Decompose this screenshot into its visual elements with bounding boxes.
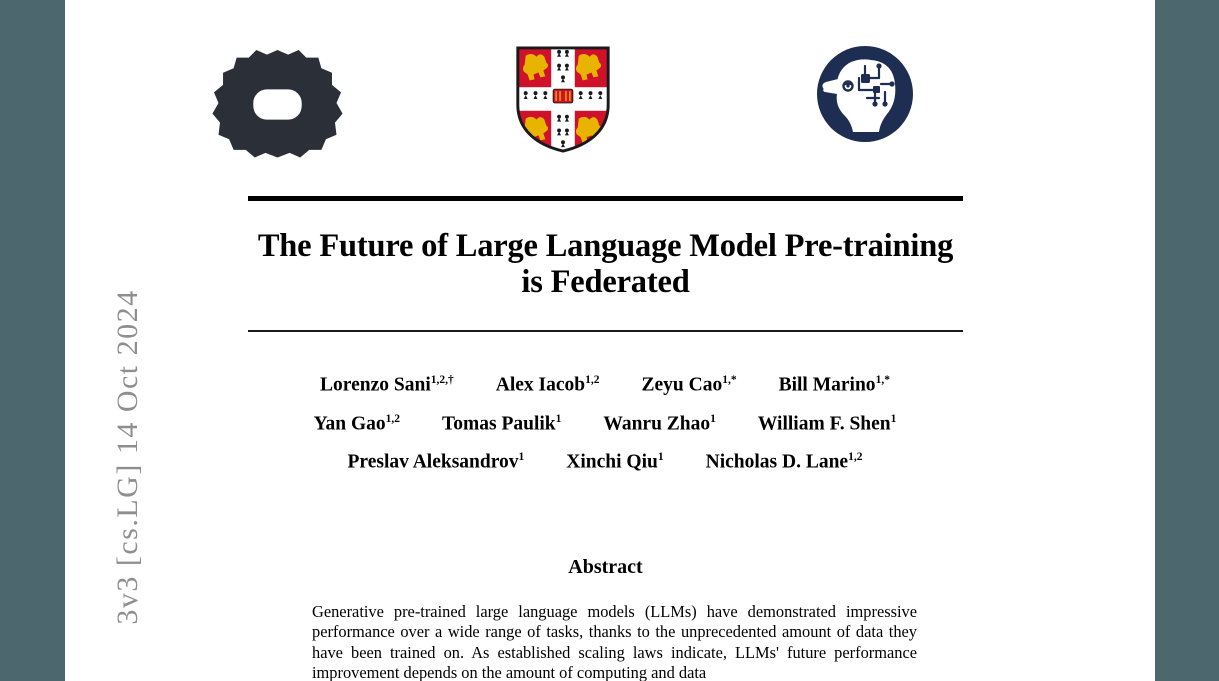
paper-title: The Future of Large Language Model Pre-t… <box>248 228 963 300</box>
author-affiliation-marker: 1 <box>556 413 562 425</box>
author-affiliation-marker: 1 <box>658 451 664 463</box>
author-name: Lorenzo Sani1,2,† <box>320 374 454 397</box>
author-affiliation-marker: 1,* <box>722 374 736 386</box>
author-affiliation-marker: 1,* <box>876 374 890 386</box>
flower-labs-gear-icon <box>200 44 355 162</box>
author-name: Zeyu Cao1,* <box>642 374 737 397</box>
author-name: Xinchi Qiu1 <box>566 451 663 474</box>
author-name: Wanru Zhao1 <box>603 413 716 436</box>
author-name: William F. Shen1 <box>758 413 897 436</box>
paper-page: 3v3 [cs.LG] 14 Oct 2024 <box>65 0 1155 681</box>
title-rule-bottom <box>248 330 963 332</box>
author-name: Preslav Aleksandrov1 <box>348 451 525 474</box>
abstract-body: Generative pre-trained large language mo… <box>312 602 917 681</box>
logo-row <box>65 44 1155 154</box>
author-row: Yan Gao1,2Tomas Paulik1Wanru Zhao1Willia… <box>225 413 985 436</box>
title-rule-top <box>248 196 963 201</box>
author-affiliation-marker: 1 <box>710 413 716 425</box>
author-affiliation-marker: 1,2 <box>585 374 599 386</box>
author-affiliation-marker: 1 <box>891 413 897 425</box>
arxiv-identifier-stamp: 3v3 [cs.LG] 14 Oct 2024 <box>111 107 145 681</box>
cambridge-university-crest-icon <box>513 44 613 154</box>
author-affiliation-marker: 1 <box>519 451 525 463</box>
abstract-heading: Abstract <box>248 556 963 579</box>
author-affiliation-marker: 1,2 <box>848 451 862 463</box>
author-row: Preslav Aleksandrov1Xinchi Qiu1Nicholas … <box>225 451 985 474</box>
author-name: Alex Iacob1,2 <box>496 374 600 397</box>
author-name: Nicholas D. Lane1,2 <box>706 451 863 474</box>
author-name: Yan Gao1,2 <box>314 413 400 436</box>
author-row: Lorenzo Sani1,2,†Alex Iacob1,2Zeyu Cao1,… <box>225 374 985 397</box>
author-name: Bill Marino1,* <box>779 374 890 397</box>
author-name: Tomas Paulik1 <box>442 413 561 436</box>
author-affiliation-marker: 1,2,† <box>431 374 454 386</box>
author-affiliation-marker: 1,2 <box>386 413 400 425</box>
author-list: Lorenzo Sani1,2,†Alex Iacob1,2Zeyu Cao1,… <box>225 374 985 490</box>
dodo-circuit-icon <box>815 44 935 154</box>
